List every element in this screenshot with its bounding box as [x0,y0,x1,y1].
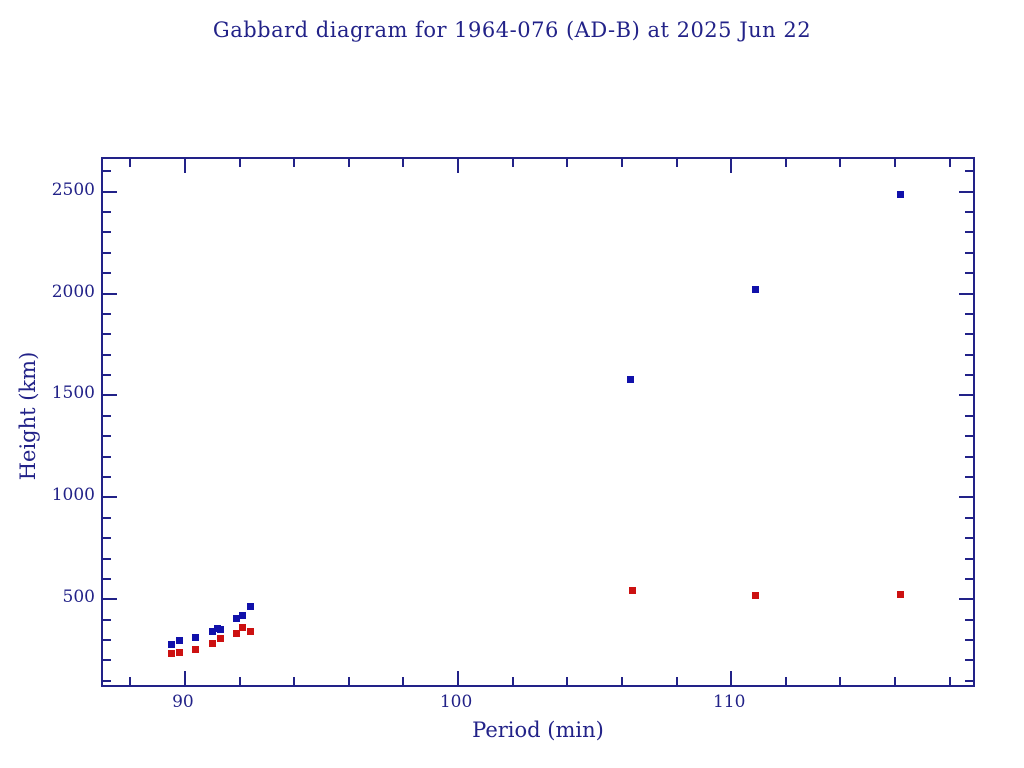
plot-area [101,157,975,687]
y-axis-minor-tick [103,333,111,335]
y-axis-minor-tick [965,374,973,376]
data-point-perigee [192,646,199,653]
data-point-perigee [629,587,636,594]
data-point-perigee [209,640,216,647]
data-point-apogee [192,634,199,641]
x-axis-minor-tick [894,159,896,167]
x-axis-minor-tick [129,677,131,685]
y-axis-minor-tick [965,680,973,682]
y-axis-minor-tick [965,435,973,437]
y-axis-minor-tick [103,252,111,254]
data-point-perigee [168,650,175,657]
y-axis-minor-tick [103,374,111,376]
y-axis-minor-tick [965,578,973,580]
y-axis-minor-tick [965,558,973,560]
data-point-perigee [233,630,240,637]
data-point-apogee [752,286,759,293]
x-axis-minor-tick [839,159,841,167]
y-axis-minor-tick [103,537,111,539]
y-axis-minor-tick [103,639,111,641]
x-axis-minor-tick [402,159,404,167]
y-axis-minor-tick [965,456,973,458]
y-axis-minor-tick [965,619,973,621]
y-axis-minor-tick [103,415,111,417]
y-axis-minor-tick [103,456,111,458]
y-axis-major-tick [103,598,117,600]
y-axis-major-tick [103,394,117,396]
y-axis-major-tick [959,496,973,498]
y-axis-minor-tick [965,517,973,519]
x-axis-major-tick [730,159,732,173]
x-axis-major-tick [457,159,459,173]
y-axis-minor-tick [103,211,111,213]
x-axis-minor-tick [293,677,295,685]
y-axis-title: Height (km) [16,316,40,516]
y-axis-tick-label: 2500 [25,180,95,200]
data-point-apogee [176,637,183,644]
y-axis-minor-tick [103,313,111,315]
y-axis-minor-tick [103,272,111,274]
y-axis-minor-tick [965,170,973,172]
data-point-perigee [752,592,759,599]
y-axis-minor-tick [965,313,973,315]
y-axis-minor-tick [103,619,111,621]
x-axis-minor-tick [348,677,350,685]
y-axis-minor-tick [103,170,111,172]
y-axis-minor-tick [103,680,111,682]
y-axis-major-tick [103,496,117,498]
data-point-apogee [217,626,224,633]
y-axis-minor-tick [965,231,973,233]
x-axis-minor-tick [676,159,678,167]
gabbard-diagram-figure: Gabbard diagram for 1964-076 (AD-B) at 2… [0,0,1024,768]
y-axis-minor-tick [103,354,111,356]
y-axis-minor-tick [965,252,973,254]
y-axis-major-tick [103,191,117,193]
x-axis-minor-tick [566,159,568,167]
x-axis-minor-tick [239,159,241,167]
data-point-apogee [247,603,254,610]
x-axis-tick-labels: 90100110 [101,692,975,718]
x-axis-minor-tick [949,159,951,167]
y-axis-major-tick [959,394,973,396]
y-axis-minor-tick [103,231,111,233]
x-axis-major-tick [184,671,186,685]
y-axis-minor-tick [103,476,111,478]
x-axis-minor-tick [676,677,678,685]
x-axis-minor-tick [785,159,787,167]
y-axis-minor-tick [965,537,973,539]
y-axis-minor-tick [103,517,111,519]
y-axis-minor-tick [965,659,973,661]
x-axis-minor-tick [894,677,896,685]
y-axis-minor-tick [103,659,111,661]
x-axis-tick-label: 110 [699,692,759,712]
y-axis-minor-tick [965,354,973,356]
y-axis-minor-tick [965,476,973,478]
y-axis-minor-tick [103,435,111,437]
data-point-perigee [247,628,254,635]
y-axis-minor-tick [965,333,973,335]
data-point-apogee [239,612,246,619]
x-axis-minor-tick [239,677,241,685]
y-axis-tick-label: 500 [25,587,95,607]
y-axis-tick-label: 2000 [25,282,95,302]
x-axis-minor-tick [566,677,568,685]
x-axis-minor-tick [402,677,404,685]
y-axis-minor-tick [965,272,973,274]
x-axis-minor-tick [785,677,787,685]
x-axis-minor-tick [839,677,841,685]
y-axis-minor-tick [103,578,111,580]
page-title: Gabbard diagram for 1964-076 (AD-B) at 2… [0,18,1024,42]
data-point-apogee [897,191,904,198]
x-axis-tick-label: 100 [426,692,486,712]
data-point-perigee [239,624,246,631]
x-axis-minor-tick [512,159,514,167]
data-point-perigee [176,649,183,656]
x-axis-major-tick [730,671,732,685]
x-axis-minor-tick [949,677,951,685]
y-axis-major-tick [959,191,973,193]
x-axis-minor-tick [293,159,295,167]
x-axis-minor-tick [621,677,623,685]
data-point-apogee [627,376,634,383]
y-axis-major-tick [959,598,973,600]
y-axis-major-tick [959,293,973,295]
x-axis-minor-tick [512,677,514,685]
data-point-perigee [897,591,904,598]
y-axis-minor-tick [965,415,973,417]
x-axis-minor-tick [348,159,350,167]
x-axis-minor-tick [621,159,623,167]
y-axis-minor-tick [965,639,973,641]
y-axis-major-tick [103,293,117,295]
x-axis-major-tick [457,671,459,685]
data-point-perigee [217,635,224,642]
x-axis-title: Period (min) [101,718,975,742]
x-axis-minor-tick [129,159,131,167]
data-point-apogee [168,641,175,648]
y-axis-minor-tick [103,558,111,560]
y-axis-minor-tick [965,211,973,213]
x-axis-tick-label: 90 [153,692,213,712]
x-axis-major-tick [184,159,186,173]
